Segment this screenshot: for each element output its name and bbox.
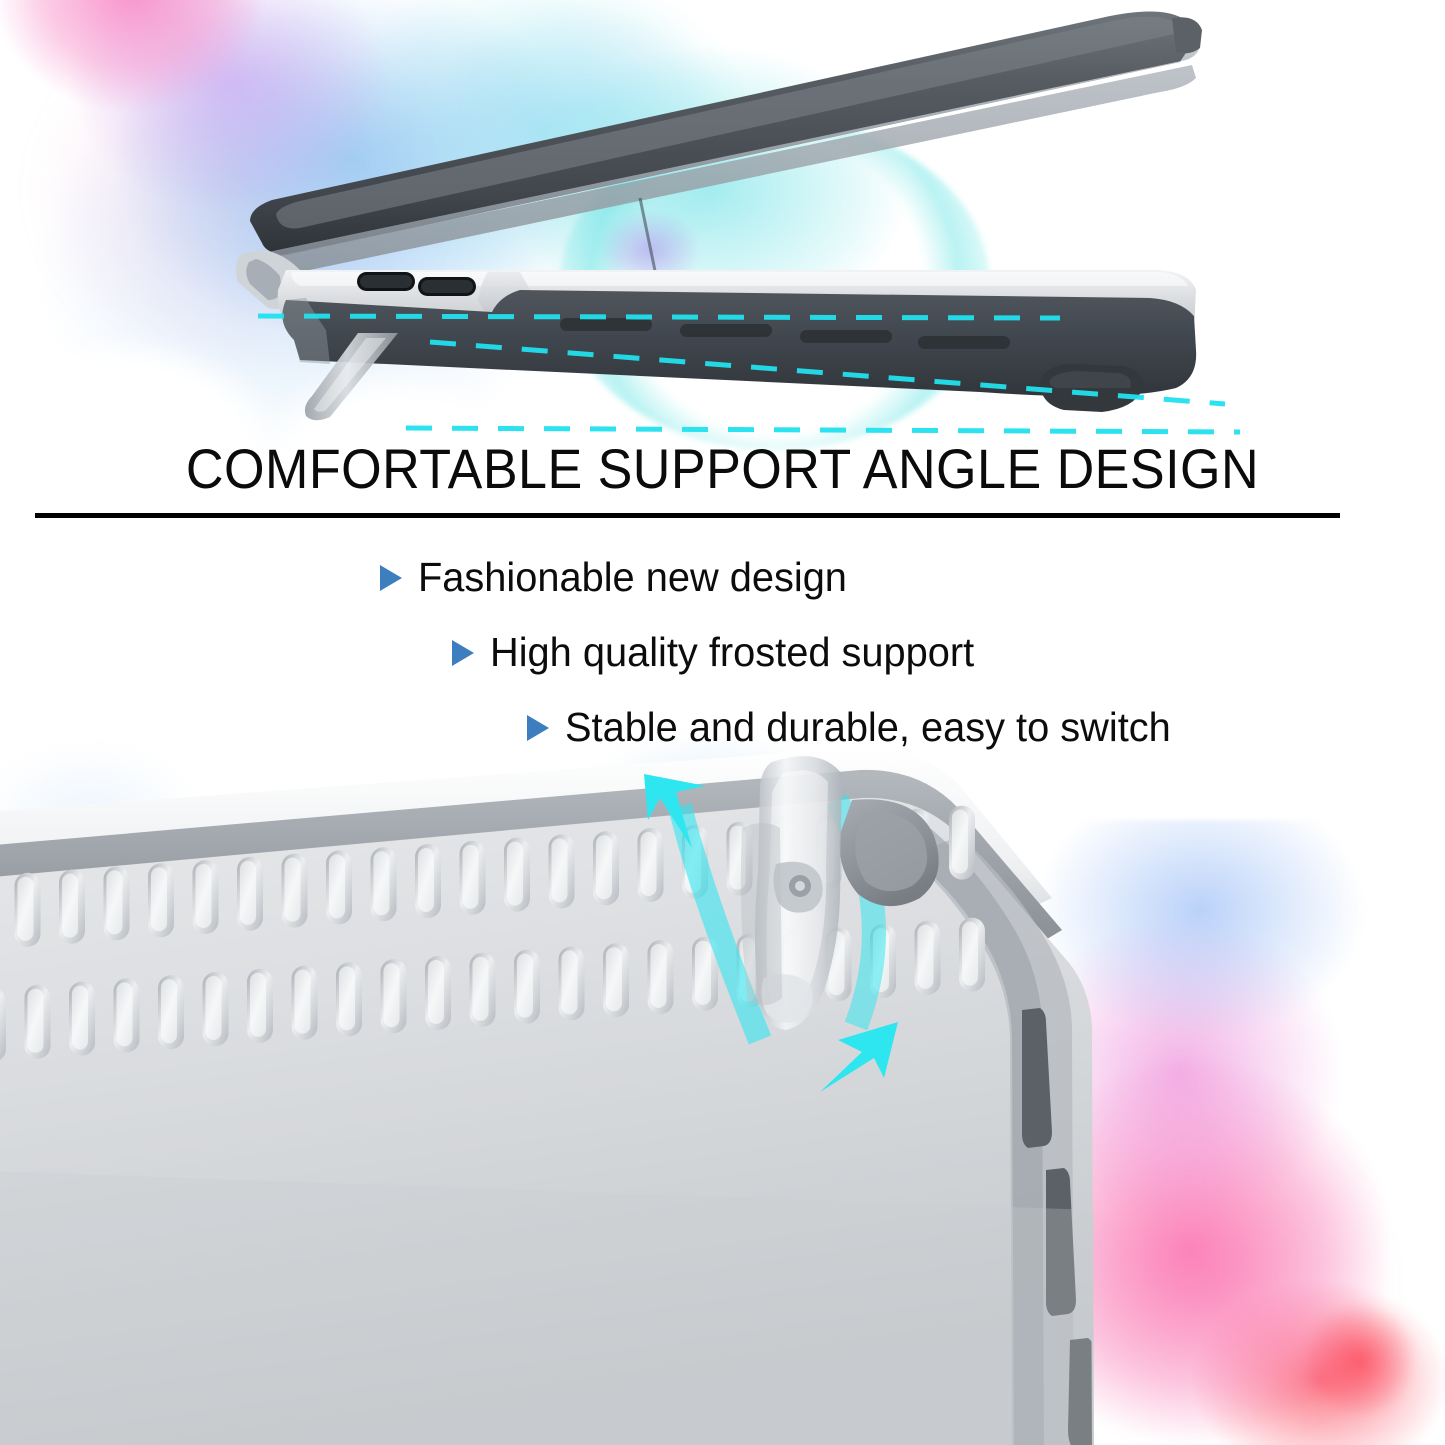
top-product-image [0,0,1445,470]
vent-hole-highlight [18,877,34,941]
case-grip-2 [680,324,772,337]
laptop-lid-with-case [250,11,1202,295]
vent-hole-highlight [28,989,44,1053]
vent-hole-highlight [695,941,711,1005]
feature-list: Fashionable new design High quality fros… [0,540,1445,765]
vent-hole-highlight [463,845,479,909]
triangle-right-icon [452,640,474,666]
vent-hole-highlight [151,867,167,931]
rubber-foot-highlight [1050,371,1131,388]
vent-hole-highlight [107,870,123,934]
vent-hole-highlight [428,960,444,1024]
vent-hole-highlight [196,864,212,928]
vent-hole-highlight [329,854,345,918]
usb-c-port-2-inner [421,280,473,293]
lid-corner-nub [1172,17,1202,53]
list-item: High quality frosted support [0,615,1445,690]
page-title: COMFORTABLE SUPPORT ANGLE DESIGN [51,440,1395,499]
lid-top-highlight [276,17,1183,229]
vent-hole-highlight [606,947,622,1011]
vent-hole-highlight [507,842,523,906]
case-grip-1 [560,318,652,331]
vent-hole [0,988,6,1062]
shell-lower-shading [0,1170,1094,1445]
vent-hole-highlight [339,966,355,1030]
vent-hole-highlight [72,986,88,1050]
product-feature-page: COMFORTABLE SUPPORT ANGLE DESIGN Fashion… [0,0,1445,1445]
lid-inner-band [272,65,1196,272]
vent-hole-highlight [62,874,78,938]
case-grip-4 [918,336,1010,349]
vent-hole-highlight [473,957,489,1021]
vent-hole-highlight [641,832,657,896]
usb-c-port-1-inner [360,275,412,288]
vent-hole-highlight [596,835,612,899]
feature-label: High quality frosted support [490,629,974,676]
headline-block: COMFORTABLE SUPPORT ANGLE DESIGN [0,440,1445,499]
vent-hole-highlight [117,982,133,1046]
vent-hole-highlight [374,851,390,915]
vent-hole-highlight [562,950,578,1014]
stand-pivot-screw-center [795,881,805,891]
angle-guide-line-3 [406,428,1240,432]
list-item: Fashionable new design [0,540,1445,615]
case-grip-3 [800,330,892,343]
triangle-right-icon [527,715,549,741]
bottom-case-shell [282,290,1196,412]
vent-hole-highlight [295,970,311,1034]
vent-hole-highlight [962,922,978,986]
vent-hole-highlight [552,838,568,902]
vent-hole-highlight [418,848,434,912]
vent-hole-highlight [161,979,177,1043]
headline-divider [35,513,1340,518]
vent-hole-highlight [651,944,667,1008]
stand-recess-slot [741,823,782,1005]
vent-hole-highlight [952,810,968,874]
vent-hole-highlight [517,954,533,1018]
triangle-right-icon [380,565,402,591]
bottom-product-image [0,740,1445,1445]
vent-hole-highlight [285,858,301,922]
vent-hole-highlight [384,963,400,1027]
vent-hole-highlight [918,925,934,989]
vent-hole-highlight [240,861,256,925]
feature-label: Fashionable new design [418,554,847,601]
vent-hole-highlight [206,976,222,1040]
vent-hole-highlight [250,973,266,1037]
